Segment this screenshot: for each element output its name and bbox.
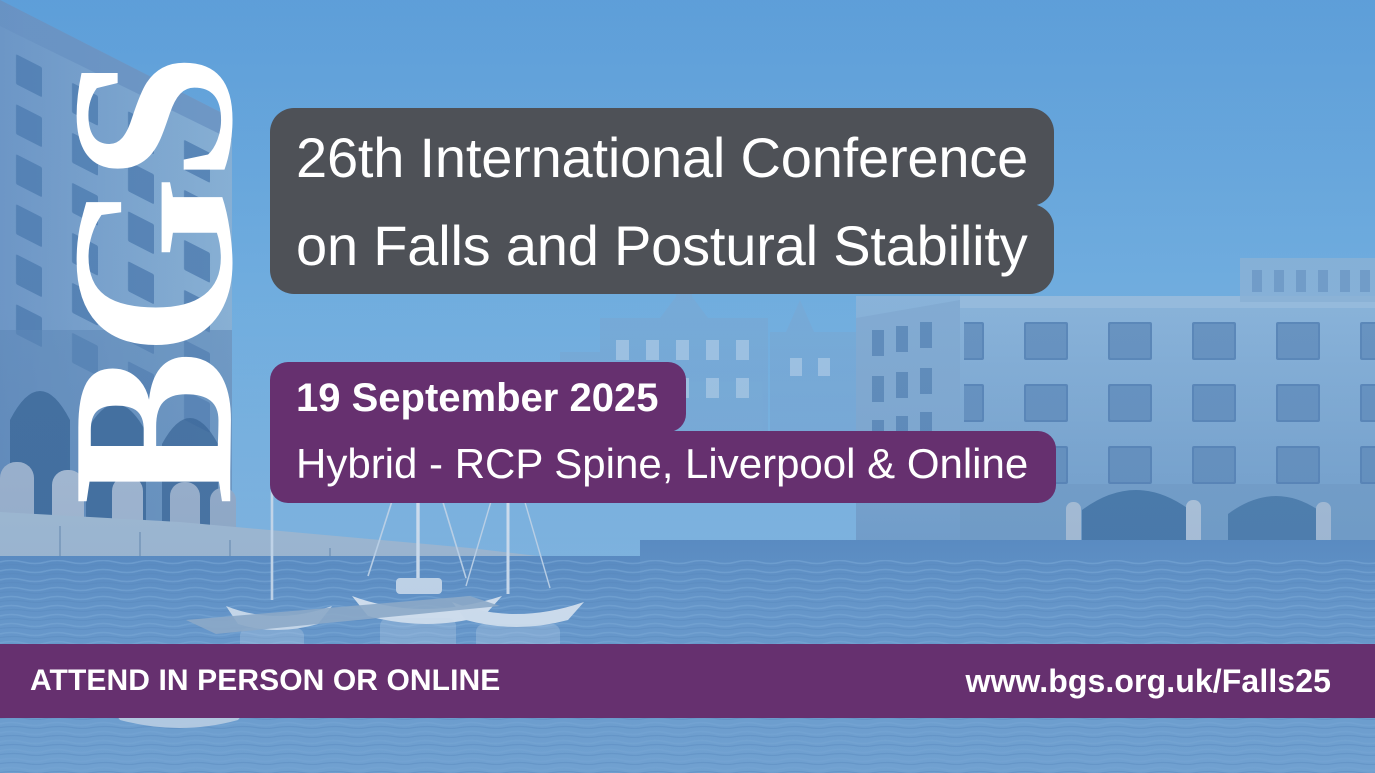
event-venue: Hybrid - RCP Spine, Liverpool & Online xyxy=(270,431,1056,503)
conference-title: 26th International Conference on Falls a… xyxy=(270,108,1054,294)
title-line-2: on Falls and Postural Stability xyxy=(270,204,1054,294)
bgs-logo-rotation: BGS xyxy=(53,59,253,505)
event-date: 19 September 2025 xyxy=(270,362,686,432)
event-details: 19 September 2025 Hybrid - RCP Spine, Li… xyxy=(270,362,1056,503)
website-url[interactable]: www.bgs.org.uk/Falls25 xyxy=(965,663,1331,700)
bgs-logo: BGS xyxy=(48,92,258,472)
conference-banner: BGS 26th International Conference on Fal… xyxy=(0,0,1375,773)
bgs-logo-wordmark: BGS xyxy=(53,59,253,505)
attendance-note: ATTEND IN PERSON OR ONLINE xyxy=(30,664,500,698)
footer-bar: ATTEND IN PERSON OR ONLINE www.bgs.org.u… xyxy=(0,644,1375,718)
title-line-1: 26th International Conference xyxy=(270,108,1054,206)
